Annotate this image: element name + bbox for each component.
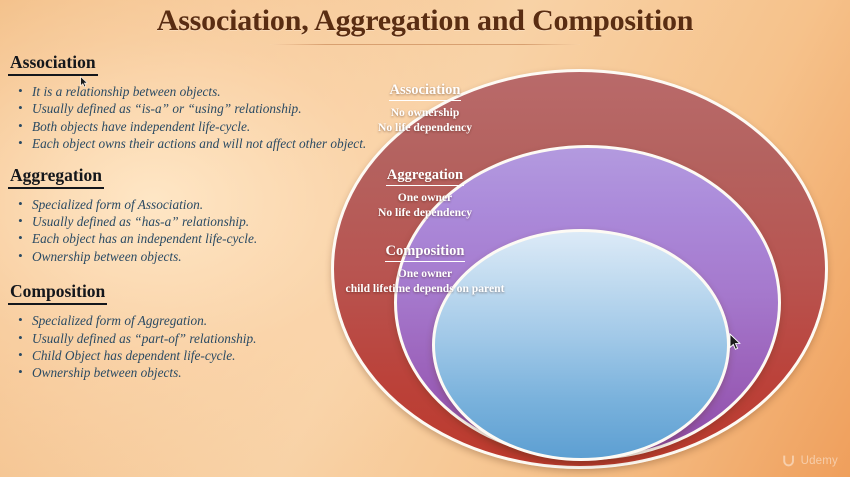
list-item: Usually defined as “has-a” relationship. [18, 213, 384, 230]
section-aggregation: Aggregation Specialized form of Associat… [8, 165, 384, 266]
list-item: Ownership between objects. [18, 364, 384, 381]
list-item: Both objects have independent life-cycle… [18, 118, 384, 135]
mouse-cursor-icon [729, 333, 741, 351]
title-divider [270, 44, 580, 45]
ellipse-title-composition: Composition [385, 243, 466, 262]
ellipse-association [331, 69, 828, 469]
spacer [8, 155, 384, 165]
udemy-logo-icon: ∪ [781, 452, 795, 469]
list-item: Each object has an independent life-cycl… [18, 230, 384, 247]
spacer [8, 267, 384, 281]
section-heading-aggregation: Aggregation [8, 165, 104, 189]
ellipse-composition [432, 229, 730, 461]
ellipse-aggregation [394, 145, 781, 460]
bullet-list-composition: Specialized form of Aggregation. Usually… [8, 312, 384, 382]
section-heading-association: Association [8, 52, 98, 76]
list-item: Specialized form of Aggregation. [18, 312, 384, 329]
bullet-list-aggregation: Specialized form of Association. Usually… [8, 196, 384, 266]
list-item: Specialized form of Association. [18, 196, 384, 213]
list-item: Usually defined as “part-of” relationshi… [18, 330, 384, 347]
bullet-list-association: It is a relationship between objects. Us… [8, 83, 384, 153]
list-item: Child Object has dependent life-cycle. [18, 347, 384, 364]
section-heading-composition: Composition [8, 281, 107, 305]
section-association: Association It is a relationship between… [8, 52, 384, 153]
udemy-label: Udemy [801, 455, 838, 467]
section-composition: Composition Specialized form of Aggregat… [8, 281, 384, 382]
mouse-cursor-secondary-icon [80, 76, 88, 88]
page-title: Association, Aggregation and Composition [0, 2, 850, 40]
list-item: Ownership between objects. [18, 248, 384, 265]
definitions-column: Association It is a relationship between… [8, 52, 384, 384]
title-area: Association, Aggregation and Composition [0, 0, 850, 45]
list-item: It is a relationship between objects. [18, 83, 384, 100]
list-item: Each object owns their actions and will … [18, 135, 384, 152]
udemy-watermark: ∪ Udemy [781, 452, 838, 469]
list-item: Usually defined as “is-a” or “using” rel… [18, 100, 384, 117]
ellipse-title-aggregation: Aggregation [386, 167, 464, 186]
ellipse-title-association: Association [389, 82, 462, 101]
slide-canvas: Association, Aggregation and Composition… [0, 0, 850, 477]
